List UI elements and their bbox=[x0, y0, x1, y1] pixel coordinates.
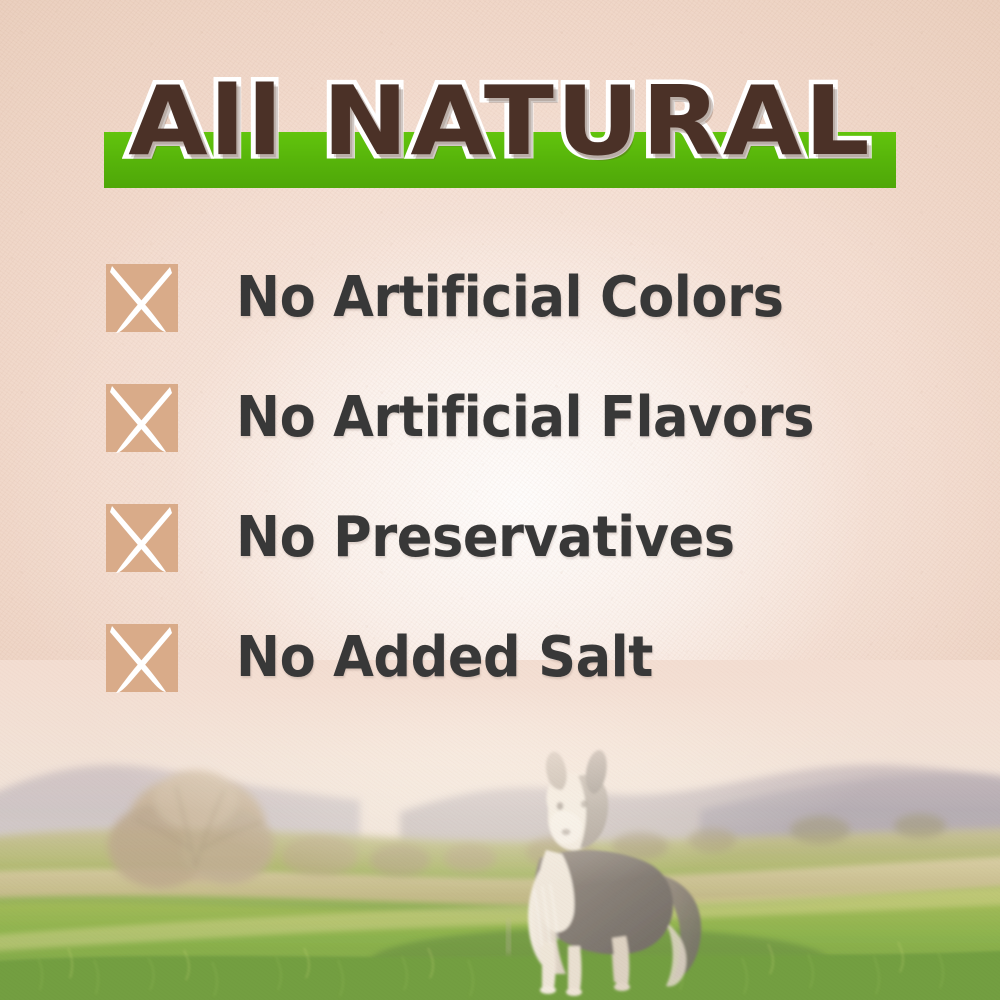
claim-label: No Preservatives bbox=[236, 492, 735, 584]
x-mark-glyph bbox=[100, 378, 184, 458]
list-item: No Artificial Flavors bbox=[106, 370, 946, 490]
x-mark-icon bbox=[106, 504, 178, 572]
x-mark-glyph bbox=[100, 258, 184, 338]
page-title: All NATURAL bbox=[0, 62, 1000, 182]
list-item: No Preservatives bbox=[106, 490, 946, 610]
x-mark-glyph bbox=[100, 618, 184, 698]
headline-banner: All NATURAL bbox=[0, 62, 1000, 192]
x-mark-glyph bbox=[100, 498, 184, 578]
claims-list: No Artificial Colors No Artificial Flavo… bbox=[106, 250, 946, 730]
claim-label: No Added Salt bbox=[236, 612, 653, 704]
x-mark-icon bbox=[106, 264, 178, 332]
x-mark-icon bbox=[106, 624, 178, 692]
x-mark-icon bbox=[106, 384, 178, 452]
list-item: No Artificial Colors bbox=[106, 250, 946, 370]
claim-label: No Artificial Flavors bbox=[236, 372, 814, 464]
all-natural-poster: All NATURAL No Artificial Colors No Arti… bbox=[0, 0, 1000, 1000]
list-item: No Added Salt bbox=[106, 610, 946, 730]
claim-label: No Artificial Colors bbox=[236, 252, 783, 344]
